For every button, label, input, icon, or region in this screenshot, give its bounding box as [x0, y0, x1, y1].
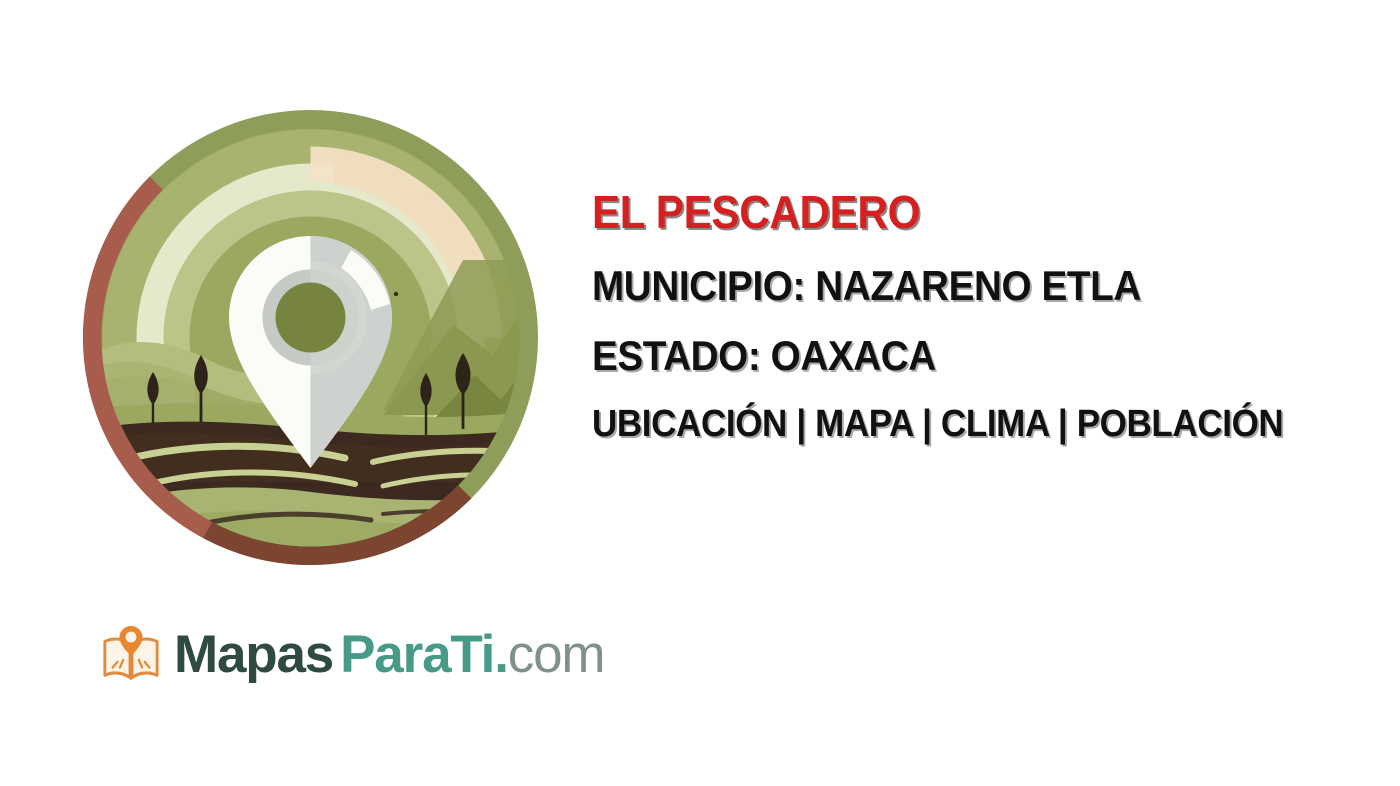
- page-title: EL PESCADERO: [592, 184, 1328, 240]
- emblem-illustration: [83, 110, 538, 565]
- brand-wordmark: MapasParaTi.com: [174, 627, 604, 683]
- brand-logo[interactable]: MapasParaTi.com: [100, 617, 604, 693]
- pin-hole: [276, 283, 346, 353]
- open-book-map-pin-icon: [100, 624, 162, 686]
- estado-label: ESTADO: OAXACA: [592, 330, 1328, 382]
- bird-dot: [394, 292, 398, 296]
- brand-part-mapas: Mapas: [174, 625, 333, 684]
- brand-part-parati: ParaTi.: [340, 625, 508, 684]
- municipio-label: MUNICIPIO: NAZARENO ETLA: [592, 260, 1328, 312]
- brand-part-com: com: [508, 625, 605, 684]
- page-canvas: EL PESCADERO MUNICIPIO: NAZARENO ETLA ES…: [0, 0, 1400, 786]
- rural-landscape-emblem: [83, 110, 538, 565]
- open-book-icon-art: [100, 624, 162, 686]
- location-info-block: EL PESCADERO MUNICIPIO: NAZARENO ETLA ES…: [592, 184, 1392, 448]
- section-links[interactable]: UBICACIÓN | MAPA | CLIMA | POBLACIÓN: [592, 400, 1328, 448]
